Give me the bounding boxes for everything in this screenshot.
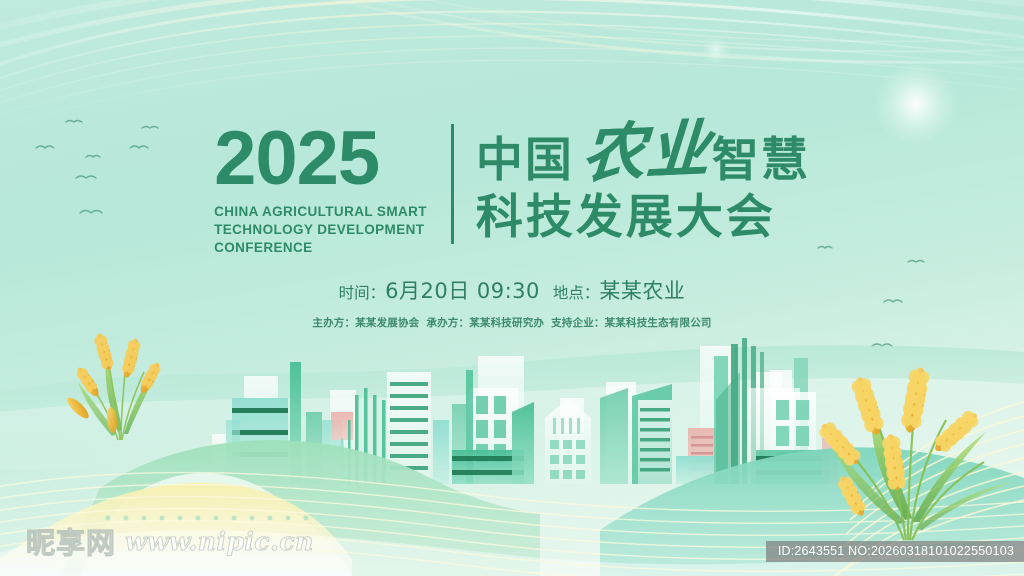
english-line-3: CONFERENCE	[214, 239, 427, 257]
host-label: 主办方：	[312, 317, 355, 329]
wheat-heads-right	[816, 366, 982, 519]
english-line-2: TECHNOLOGY DEVELOPMENT	[214, 221, 427, 239]
organizer-label: 承办方：	[426, 317, 469, 329]
watermark-site-url: www.nipic.cn	[125, 527, 314, 556]
wheat-stalks-left	[92, 360, 144, 440]
time-label: 时间：	[339, 284, 386, 302]
chinese-title-suffix: 智慧	[712, 137, 810, 184]
headline-right-column: 中国 农业 智慧 科技发展大会	[476, 118, 810, 242]
place-label: 地点：	[553, 284, 600, 302]
host-value: 某某发展协会	[355, 317, 419, 329]
wheat-leaves-right	[828, 404, 1012, 530]
chinese-title-line-2: 科技发展大会	[476, 193, 810, 242]
watermark-site-name: 昵享网	[26, 520, 116, 562]
wheat-stalks-right	[844, 412, 984, 540]
english-subtitle: CHINA AGRICULTURAL SMART TECHNOLOGY DEVE…	[214, 203, 427, 257]
organizer-value: 某某科技研究办	[469, 317, 544, 329]
organizers-line: 主办方：某某发展协会承办方：某某科技研究办支持企业：某某科技生态有限公司	[0, 315, 1024, 330]
headline-left-column: 2025 CHINA AGRICULTURAL SMART TECHNOLOGY…	[214, 118, 427, 257]
year-2025: 2025	[214, 124, 379, 194]
chinese-title-brush: 农业	[580, 121, 712, 184]
wheat-leaves-left	[78, 356, 158, 436]
support-value: 某某科技生态有限公司	[605, 317, 712, 329]
site-watermark: 昵享网 www.nipic.cn	[26, 520, 314, 562]
image-id-bar: ID:2643551 NO:20260318101022550103	[766, 541, 1024, 562]
poster-canvas: 2025 CHINA AGRICULTURAL SMART TECHNOLOGY…	[0, 0, 1024, 576]
chinese-title-line-1: 中国 农业 智慧	[476, 118, 810, 184]
headline-block: 2025 CHINA AGRICULTURAL SMART TECHNOLOGY…	[0, 118, 1024, 257]
english-line-1: CHINA AGRICULTURAL SMART	[214, 203, 427, 221]
headline-divider	[451, 124, 454, 244]
time-value: 6月20日 09:30	[385, 279, 540, 303]
chinese-title-prefix: 中国	[476, 137, 574, 184]
wheat-heads-left	[64, 332, 163, 433]
support-label: 支持企业：	[551, 317, 605, 329]
event-info-block: 时间：6月20日 09:30地点：某某农业 主办方：某某发展协会承办方：某某科技…	[0, 281, 1024, 330]
event-time-place-line: 时间：6月20日 09:30地点：某某农业	[0, 281, 1024, 302]
place-value: 某某农业	[599, 279, 685, 303]
